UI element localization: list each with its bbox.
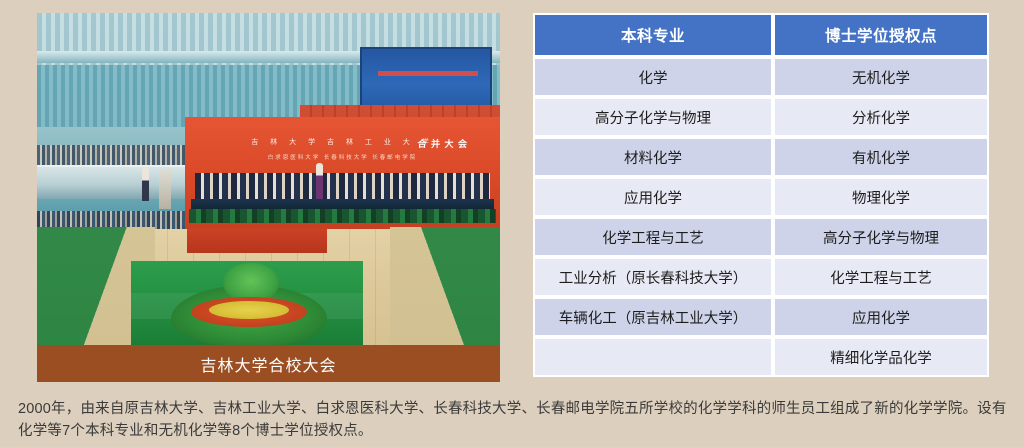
- cell-major: 化学工程与工艺: [533, 217, 773, 257]
- flower-arrangement: [165, 263, 333, 349]
- podium: [159, 169, 171, 209]
- cell-major: 高分子化学与物理: [533, 97, 773, 137]
- ceremony-photo: 吉 林 大 学 吉 林 工 业 大 学 白求恩医科大学 长春科技大学 长春邮电学…: [37, 13, 500, 382]
- person-standing-left: [142, 167, 149, 201]
- person-standing-right: [316, 163, 323, 199]
- cell-doctoral: 物理化学: [773, 177, 989, 217]
- header-doctoral-program: 博士学位授权点: [773, 13, 989, 57]
- cell-major: 应用化学: [533, 177, 773, 217]
- programs-table: 本科专业 博士学位授权点 化学 无机化学 高分子化学与物理 分析化学 材料化学 …: [533, 13, 989, 377]
- stage-table: [191, 199, 494, 209]
- cell-doctoral: 精细化学品化学: [773, 337, 989, 377]
- cell-major: 工业分析（原长春科技大学）: [533, 257, 773, 297]
- table-row: 车辆化工（原吉林工业大学） 应用化学: [533, 297, 989, 337]
- table-row: 精细化学品化学: [533, 337, 989, 377]
- cell-doctoral: 分析化学: [773, 97, 989, 137]
- cell-major: 车辆化工（原吉林工业大学）: [533, 297, 773, 337]
- banner-line-3: 合 并 大 会: [417, 137, 468, 150]
- flower-yellow-center: [209, 301, 289, 319]
- led-screen: [360, 47, 492, 109]
- cell-doctoral: 无机化学: [773, 57, 989, 97]
- table-row: 工业分析（原长春科技大学） 化学工程与工艺: [533, 257, 989, 297]
- table-row: 高分子化学与物理 分析化学: [533, 97, 989, 137]
- cell-major: [533, 337, 773, 377]
- table-row: 化学 无机化学: [533, 57, 989, 97]
- table-row: 应用化学 物理化学: [533, 177, 989, 217]
- photo-caption-text: 吉林大学合校大会: [200, 352, 336, 376]
- stage-banner: 吉 林 大 学 吉 林 工 业 大 学 白求恩医科大学 长春科技大学 长春邮电学…: [185, 117, 500, 229]
- table-row: 材料化学 有机化学: [533, 137, 989, 177]
- red-carpet-runner: [187, 229, 327, 253]
- description-paragraph: 2000年，由来自原吉林大学、吉林工业大学、白求恩医科大学、长春科技大学、长春邮…: [18, 398, 1010, 442]
- cell-major: 化学: [533, 57, 773, 97]
- photo-caption-bar: 吉林大学合校大会: [37, 345, 500, 382]
- table-body: 化学 无机化学 高分子化学与物理 分析化学 材料化学 有机化学 应用化学 物理化…: [533, 57, 989, 377]
- stage-plants: [189, 209, 496, 223]
- banner-line-2: 白求恩医科大学 长春科技大学 长春邮电学院: [185, 153, 500, 161]
- cell-doctoral: 高分子化学与物理: [773, 217, 989, 257]
- cell-major: 材料化学: [533, 137, 773, 177]
- table-header: 本科专业 博士学位授权点: [533, 13, 989, 57]
- cell-doctoral: 化学工程与工艺: [773, 257, 989, 297]
- stage-seated-officials: [195, 173, 490, 199]
- cell-doctoral: 应用化学: [773, 297, 989, 337]
- table-header-row: 本科专业 博士学位授权点: [533, 13, 989, 57]
- table-row: 化学工程与工艺 高分子化学与物理: [533, 217, 989, 257]
- photo-scene: 吉 林 大 学 吉 林 工 业 大 学 白求恩医科大学 长春科技大学 长春邮电学…: [37, 13, 500, 382]
- cell-doctoral: 有机化学: [773, 137, 989, 177]
- header-undergraduate-major: 本科专业: [533, 13, 773, 57]
